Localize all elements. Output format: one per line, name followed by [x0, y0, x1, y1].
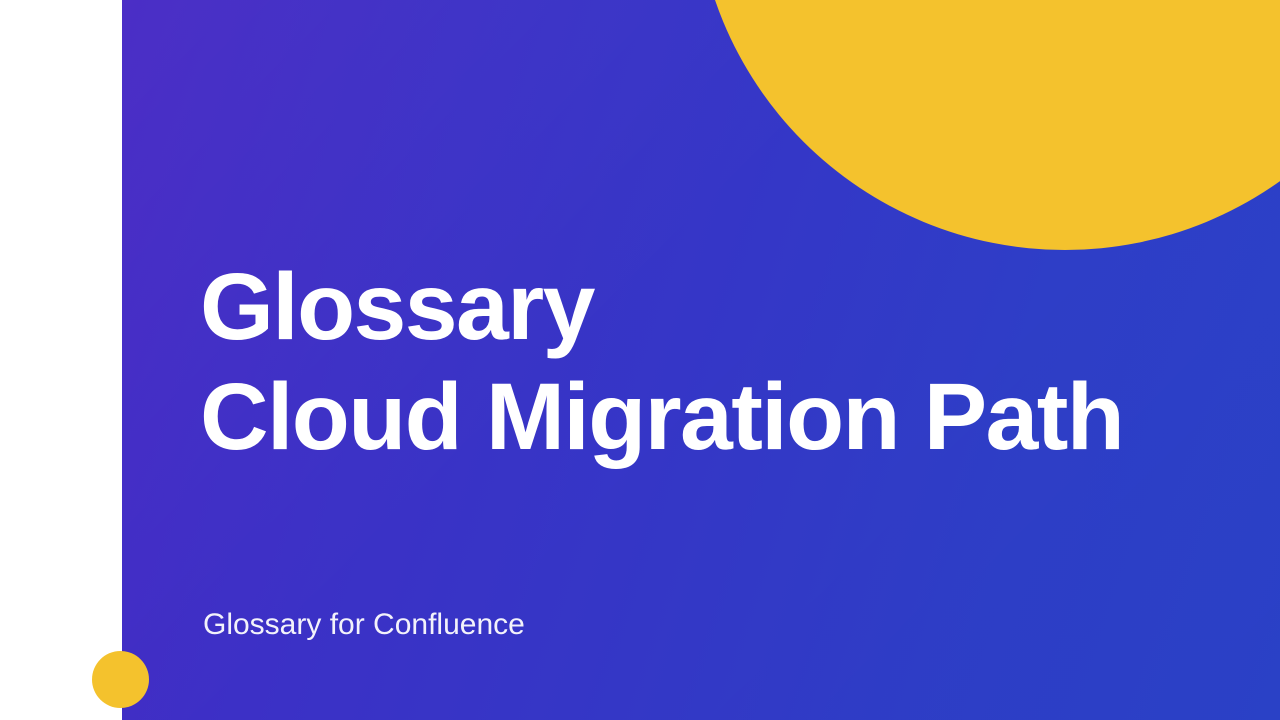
slide-content: Glossary Cloud Migration Path Glossary f…	[0, 0, 1280, 720]
title-slide: Glossary Cloud Migration Path Glossary f…	[0, 0, 1280, 720]
slide-subtitle: Glossary for Confluence	[203, 607, 525, 643]
yellow-dot-decoration	[92, 651, 149, 708]
slide-title: Glossary Cloud Migration Path	[200, 252, 1200, 472]
